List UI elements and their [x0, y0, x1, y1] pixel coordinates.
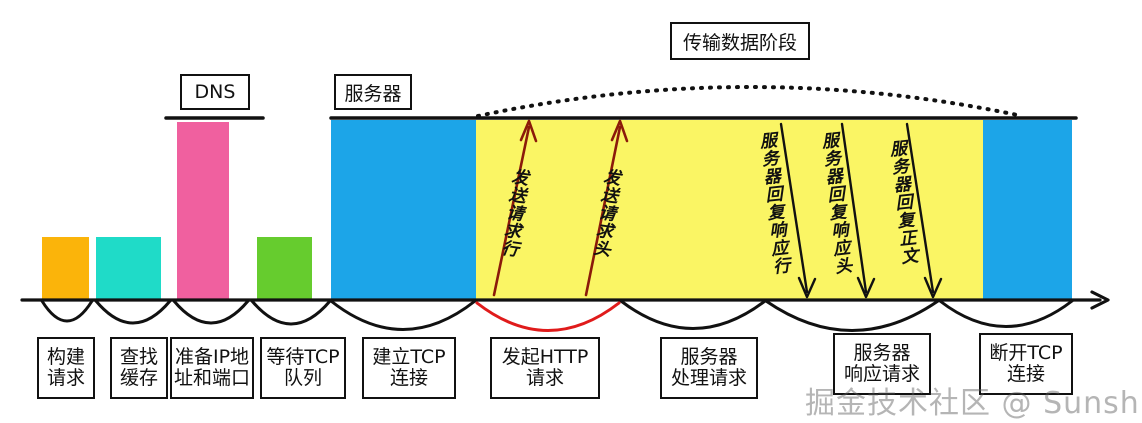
title-box-label: 传输数据阶段	[683, 28, 797, 55]
phase-label-lookup-cache-line2: 缓存	[120, 368, 158, 389]
top-label-server-text: 服务器	[344, 79, 401, 106]
bracket-prepare-ip-port	[174, 301, 248, 323]
bracket-establish-tcp	[331, 301, 475, 330]
bracket-close-tcp	[940, 301, 1072, 327]
bar-lookup-cache	[96, 237, 161, 300]
phase-label-send-http-line1: 发起HTTP	[502, 347, 589, 368]
phase-label-build-request-line2: 请求	[47, 368, 85, 389]
watermark: 掘金技术社区 @ Sunshine111	[805, 378, 1142, 422]
phase-label-lookup-cache-line1: 查找	[120, 347, 158, 368]
phase-label-establish-tcp: 建立TCP 连接	[362, 337, 456, 399]
bracket-server-respond	[766, 301, 938, 331]
top-label-dns: DNS	[180, 74, 250, 110]
bar-build-request	[42, 237, 89, 300]
bar-prepare-ip-port	[177, 122, 229, 300]
diagram-canvas: 传输数据阶段 DNS 服务器 发送请求行 发送请求头 服务器回复响应行 服务器回…	[0, 0, 1142, 423]
phase-label-prepare-ip-port-line2: 址和端口	[174, 368, 250, 389]
phase-label-establish-tcp-line1: 建立TCP	[372, 347, 445, 368]
phase-label-close-tcp-line1: 断开TCP	[989, 343, 1062, 364]
phase-label-wait-tcp-queue-line1: 等待TCP	[266, 347, 339, 368]
phase-label-send-http: 发起HTTP 请求	[490, 337, 600, 399]
phase-label-wait-tcp-queue-line2: 队列	[284, 368, 322, 389]
bracket-build-request	[42, 301, 92, 321]
bar-establish-tcp	[331, 120, 476, 300]
data-transfer-arc	[478, 87, 1022, 116]
phase-label-wait-tcp-queue: 等待TCP 队列	[260, 337, 346, 399]
bar-wait-tcp-queue	[257, 237, 312, 300]
phase-label-lookup-cache: 查找 缓存	[110, 337, 168, 399]
phase-label-server-respond-line1: 服务器	[853, 343, 910, 364]
top-label-server: 服务器	[334, 74, 412, 110]
bracket-lookup-cache	[96, 301, 170, 323]
phase-label-server-process: 服务器 处理请求	[660, 337, 758, 399]
bar-close-tcp	[983, 120, 1072, 300]
phase-bars	[42, 120, 1072, 300]
phase-label-server-process-line2: 处理请求	[671, 368, 747, 389]
title-box-data-transfer: 传输数据阶段	[670, 22, 810, 60]
bracket-wait-tcp-queue	[252, 301, 330, 324]
bracket-send-http	[477, 303, 619, 331]
phase-label-prepare-ip-port: 准备IP地 址和端口	[170, 337, 254, 399]
phase-label-prepare-ip-port-line1: 准备IP地	[175, 347, 249, 368]
top-label-dns-text: DNS	[195, 81, 236, 103]
phase-label-server-process-line1: 服务器	[680, 347, 737, 368]
phase-brackets	[42, 301, 1072, 331]
phase-label-establish-tcp-line2: 连接	[390, 368, 428, 389]
phase-label-send-http-line2: 请求	[526, 368, 564, 389]
phase-label-build-request: 构建 请求	[37, 337, 95, 399]
phase-label-build-request-line1: 构建	[47, 347, 85, 368]
bracket-server-process	[621, 301, 765, 329]
